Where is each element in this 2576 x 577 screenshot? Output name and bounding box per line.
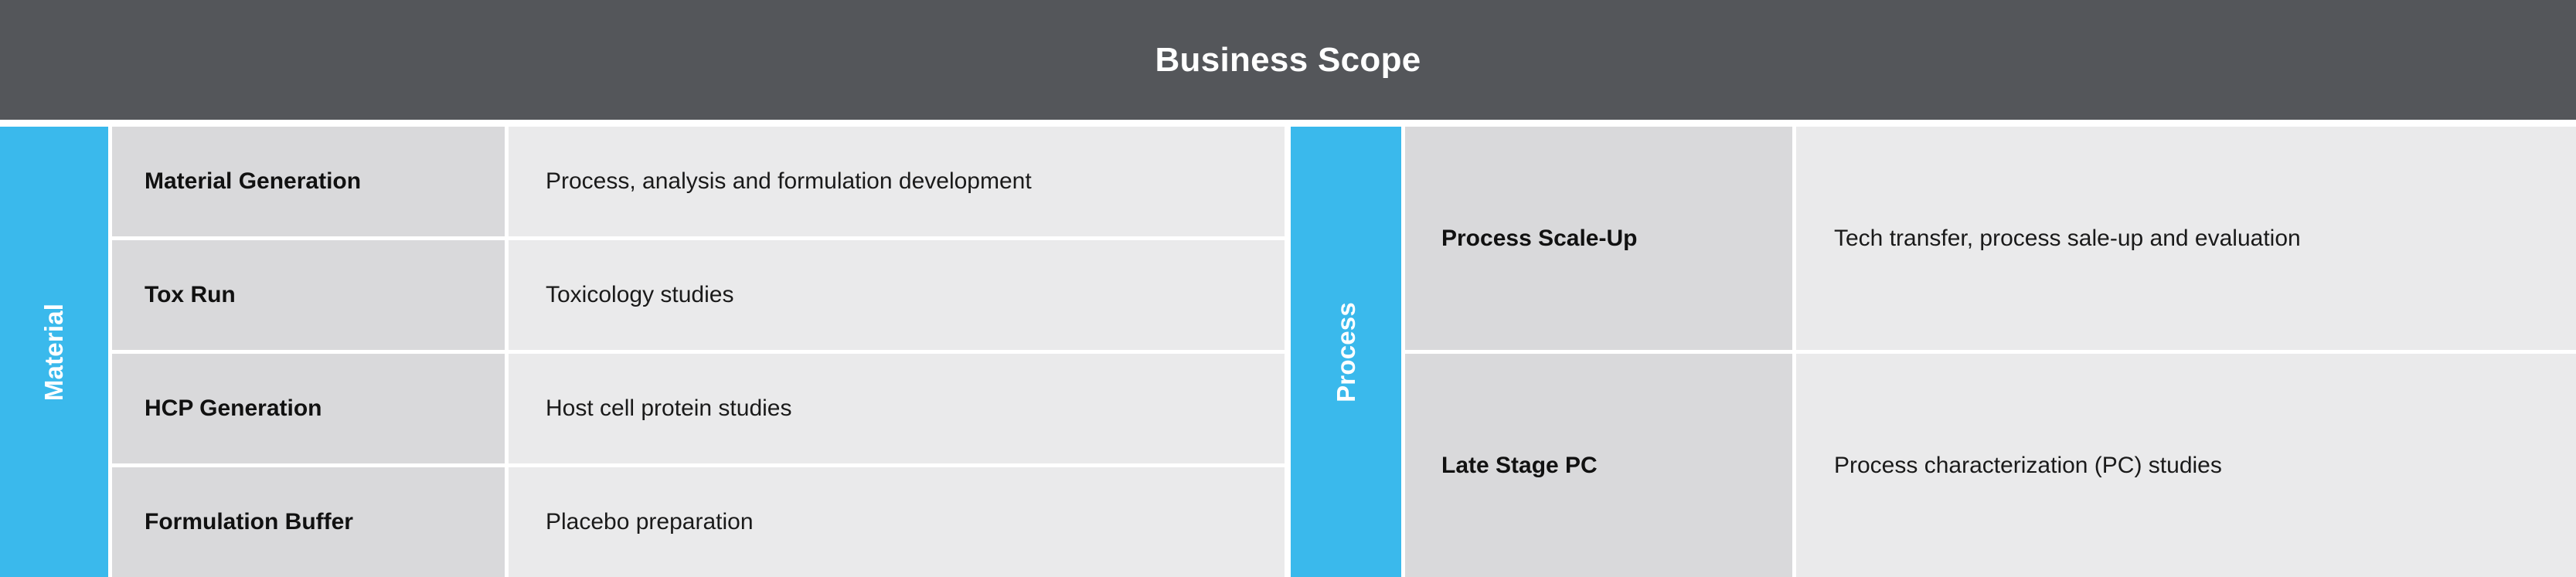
row-description-cell: Process characterization (PC) studies bbox=[1796, 354, 2576, 577]
table-row[interactable]: Process Scale-Up Tech transfer, process … bbox=[1405, 127, 2576, 350]
row-description-label: Tech transfer, process sale-up and evalu… bbox=[1834, 224, 2301, 253]
row-description-label: Toxicology studies bbox=[546, 280, 733, 310]
row-name-label: Tox Run bbox=[145, 281, 236, 309]
row-description-label: Placebo preparation bbox=[546, 507, 754, 537]
rows-process: Process Scale-Up Tech transfer, process … bbox=[1405, 127, 2576, 577]
table-row[interactable]: Late Stage PC Process characterization (… bbox=[1405, 354, 2576, 577]
business-scope-infographic: Business Scope Material Material Generat… bbox=[0, 0, 2576, 577]
panels-container: Material Material Generation Process, an… bbox=[0, 127, 2576, 577]
rows-material: Material Generation Process, analysis an… bbox=[112, 127, 1285, 577]
category-label-material: Material bbox=[39, 303, 69, 400]
row-description-cell: Placebo preparation bbox=[509, 467, 1285, 577]
row-name-label: Material Generation bbox=[145, 168, 361, 195]
row-name-label: HCP Generation bbox=[145, 395, 322, 423]
row-description-cell: Process, analysis and formulation develo… bbox=[509, 127, 1285, 236]
panel-material: Material Material Generation Process, an… bbox=[0, 127, 1285, 577]
row-name-cell: Process Scale-Up bbox=[1405, 127, 1792, 350]
row-name-label: Late Stage PC bbox=[1441, 452, 1598, 480]
table-row[interactable]: Material Generation Process, analysis an… bbox=[112, 127, 1285, 236]
row-name-cell: Tox Run bbox=[112, 240, 505, 350]
row-name-label: Formulation Buffer bbox=[145, 508, 353, 536]
category-tab-process[interactable]: Process bbox=[1291, 127, 1401, 577]
row-name-cell: Late Stage PC bbox=[1405, 354, 1792, 577]
row-name-cell: Material Generation bbox=[112, 127, 505, 236]
header-banner: Business Scope bbox=[0, 0, 2576, 120]
category-label-process: Process bbox=[1331, 302, 1360, 402]
row-description-label: Host cell protein studies bbox=[546, 394, 792, 423]
row-description-cell: Tech transfer, process sale-up and evalu… bbox=[1796, 127, 2576, 350]
row-description-cell: Toxicology studies bbox=[509, 240, 1285, 350]
page-title: Business Scope bbox=[1155, 41, 1421, 80]
table-row[interactable]: Formulation Buffer Placebo preparation bbox=[112, 467, 1285, 577]
row-description-cell: Host cell protein studies bbox=[509, 354, 1285, 463]
table-row[interactable]: HCP Generation Host cell protein studies bbox=[112, 354, 1285, 463]
table-row[interactable]: Tox Run Toxicology studies bbox=[112, 240, 1285, 350]
row-name-cell: Formulation Buffer bbox=[112, 467, 505, 577]
category-tab-material[interactable]: Material bbox=[0, 127, 108, 577]
row-name-cell: HCP Generation bbox=[112, 354, 505, 463]
row-description-label: Process, analysis and formulation develo… bbox=[546, 167, 1032, 196]
row-name-label: Process Scale-Up bbox=[1441, 225, 1637, 253]
panel-divider bbox=[1285, 127, 1291, 577]
panel-process: Process Process Scale-Up Tech transfer, … bbox=[1291, 127, 2576, 577]
row-description-label: Process characterization (PC) studies bbox=[1834, 451, 2222, 480]
